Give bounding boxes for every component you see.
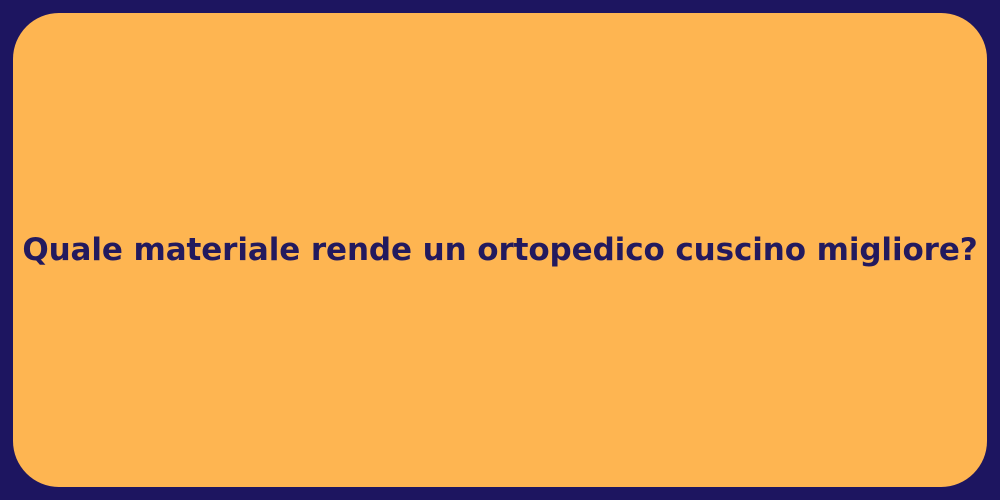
headline-question: Quale materiale rende un ortopedico cusc… xyxy=(22,231,977,270)
card-panel: Quale materiale rende un ortopedico cusc… xyxy=(13,13,987,487)
card-frame: Quale materiale rende un ortopedico cusc… xyxy=(0,0,1000,500)
